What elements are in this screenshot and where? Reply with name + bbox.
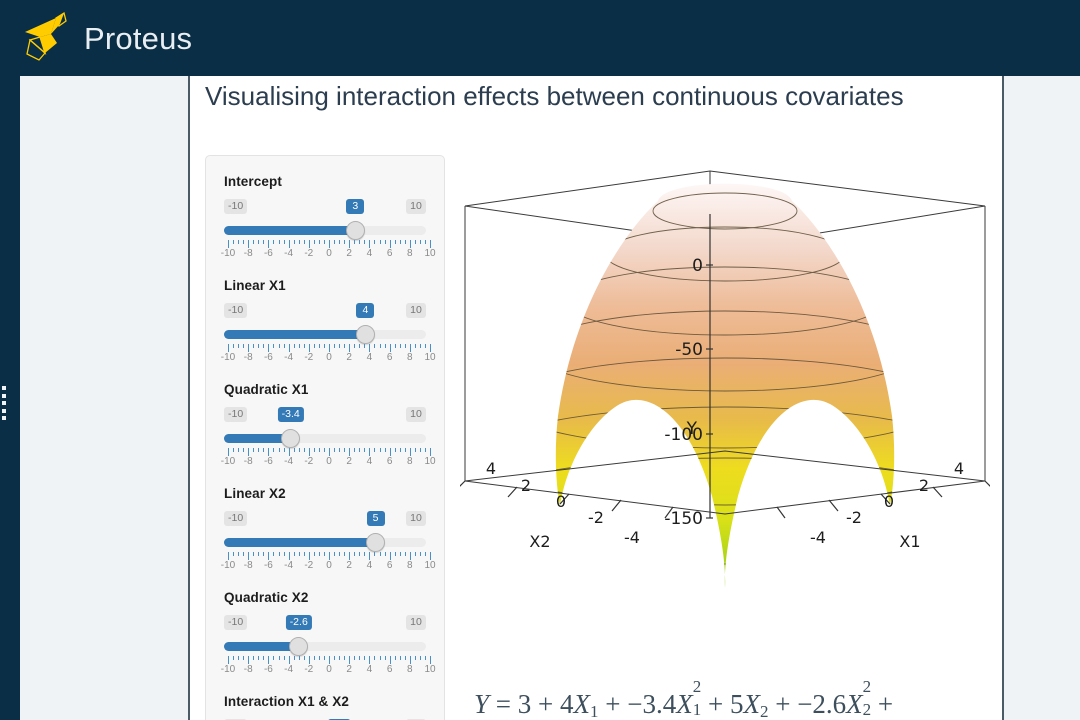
slider-value-bubble-4: -2.6 — [286, 615, 312, 630]
x2-tick--4: -4 — [624, 528, 640, 547]
slider-thumb-0[interactable] — [346, 221, 365, 240]
x2-tick-2: 2 — [521, 476, 531, 495]
slider-scale-tick-1-1: -8 — [244, 352, 253, 363]
slider-thumb-2[interactable] — [281, 429, 300, 448]
slider-scale-tick-2-9: 8 — [407, 456, 413, 467]
slider-scale-tick-2-4: -2 — [304, 456, 313, 467]
slider-track-4[interactable] — [224, 638, 426, 655]
equation-equals: = — [496, 689, 511, 719]
slider-scale-tick-3-9: 8 — [407, 560, 413, 571]
slider-scale-tick-4-0: -10 — [221, 664, 235, 675]
slider-scale-tick-4-8: 6 — [387, 664, 393, 675]
slider-scale-tick-0-7: 4 — [367, 248, 373, 259]
slider-scale-tick-2-2: -6 — [264, 456, 273, 467]
equation-x1-power: 2 — [693, 677, 702, 697]
slider-scale-tick-3-10: 10 — [424, 560, 435, 571]
y-tick-150: -150 — [664, 509, 703, 529]
slider-scale-tick-1-7: 4 — [367, 352, 373, 363]
slider-max-label-2: 10 — [406, 407, 426, 422]
slider-scale-1: -10-8-6-4-20246810 — [224, 352, 426, 366]
slider-track-1[interactable] — [224, 326, 426, 343]
slider-thumb-1[interactable] — [356, 325, 375, 344]
slider-scale-tick-1-0: -10 — [221, 352, 235, 363]
x2-tick-0: 0 — [556, 492, 566, 511]
slider-scale-tick-4-9: 8 — [407, 664, 413, 675]
drag-grip-icon[interactable] — [2, 386, 8, 420]
y-axis-title: Y — [686, 419, 698, 439]
slider-scale-tick-2-1: -8 — [244, 456, 253, 467]
slider-value-row-4: -1010-2.6 — [224, 615, 426, 637]
x1-axis-title: X1 — [899, 532, 920, 551]
equation-lhs: Y — [474, 689, 489, 719]
slider-ruler-2 — [224, 448, 426, 456]
slider-scale-tick-1-6: 2 — [346, 352, 352, 363]
slider-scale-tick-0-8: 6 — [387, 248, 393, 259]
equation-x1-b: X — [676, 689, 693, 719]
equation-x1-sub-b: 1 — [693, 700, 702, 720]
x2-tick-4: 4 — [486, 459, 496, 478]
equation-x2-power: 2 — [863, 677, 872, 697]
equation-x2-a: X — [743, 689, 760, 719]
slider-scale-tick-3-5: 0 — [326, 560, 332, 571]
slider-scale-2: -10-8-6-4-20246810 — [224, 456, 426, 470]
slider-scale-tick-4-1: -8 — [244, 664, 253, 675]
slider-label-1: Linear X1 — [224, 278, 426, 293]
equation-quad-x1-coef: −3.4 — [627, 689, 676, 719]
slider-label-0: Intercept — [224, 174, 426, 189]
slider-scale-tick-0-2: -6 — [264, 248, 273, 259]
slider-scale-tick-0-0: -10 — [221, 248, 235, 259]
slider-scale-tick-2-6: 2 — [346, 456, 352, 467]
slider-min-label-0: -10 — [224, 199, 247, 214]
slider-group-4: Quadratic X2-1010-2.6-10-8-6-4-20246810 — [224, 590, 426, 678]
slider-scale-tick-3-1: -8 — [244, 560, 253, 571]
slider-max-label-3: 10 — [406, 511, 426, 526]
slider-scale-tick-4-5: 0 — [326, 664, 332, 675]
equation-plus-3: + — [708, 689, 723, 719]
equation-intercept: 3 — [518, 689, 532, 719]
equation-linear-x1-coef: 4 — [560, 689, 574, 719]
slider-max-label-4: 10 — [406, 615, 426, 630]
slider-group-3: Linear X2-10105-10-8-6-4-20246810 — [224, 486, 426, 574]
slider-value-row-2: -1010-3.4 — [224, 407, 426, 429]
slider-scale-tick-3-8: 6 — [387, 560, 393, 571]
x1-tick--2: -2 — [846, 508, 862, 527]
slider-label-4: Quadratic X2 — [224, 590, 426, 605]
slider-scale-3: -10-8-6-4-20246810 — [224, 560, 426, 574]
slider-group-2: Quadratic X1-1010-3.4-10-8-6-4-20246810 — [224, 382, 426, 470]
x2-tick--2: -2 — [588, 508, 604, 527]
equation-quad-x2-coef: −2.6 — [797, 689, 846, 719]
slider-min-label-2: -10 — [224, 407, 247, 422]
slider-scale-tick-2-0: -10 — [221, 456, 235, 467]
slider-value-row-3: -10105 — [224, 511, 426, 533]
slider-track-0[interactable] — [224, 222, 426, 239]
slider-thumb-4[interactable] — [289, 637, 308, 656]
slider-scale-tick-2-7: 4 — [367, 456, 373, 467]
equation-plus-2: + — [605, 689, 620, 719]
sidebar-panel — [20, 76, 190, 720]
x2-axis-title: X2 — [529, 532, 550, 551]
slider-ruler-4 — [224, 656, 426, 664]
parameter-controls-card: Intercept-10103-10-8-6-4-20246810Linear … — [205, 155, 445, 720]
slider-track-2[interactable] — [224, 430, 426, 447]
equation-linear-x2-coef: 5 — [730, 689, 744, 719]
slider-scale-tick-3-6: 2 — [346, 560, 352, 571]
equation-x1-a: X — [574, 689, 591, 719]
equation-x2-sub-a: 2 — [760, 702, 769, 720]
slider-scale-tick-1-10: 10 — [424, 352, 435, 363]
top-navbar: Proteus — [0, 0, 1080, 76]
slider-value-bubble-0: 3 — [346, 199, 364, 214]
slider-track-fill-0 — [224, 226, 355, 235]
slider-scale-tick-3-0: -10 — [221, 560, 235, 571]
surface-mesh — [460, 166, 990, 686]
model-equation: Y = 3 + 4X1 + −3.4X211 + 5X2 + −2.6X221 … — [474, 689, 893, 720]
slider-label-5: Interaction X1 & X2 — [224, 694, 426, 709]
slider-scale-tick-1-3: -4 — [284, 352, 293, 363]
slider-group-5: Interaction X1 & X2-10101.4-10-8-6-4-202… — [224, 694, 426, 720]
slider-max-label-0: 10 — [406, 199, 426, 214]
x1-tick-4: 4 — [954, 459, 964, 478]
slider-scale-tick-1-2: -6 — [264, 352, 273, 363]
slider-value-row-1: -10104 — [224, 303, 426, 325]
slider-ruler-3 — [224, 552, 426, 560]
slider-thumb-3[interactable] — [366, 533, 385, 552]
slider-scale-tick-1-9: 8 — [407, 352, 413, 363]
y-tick-50: -50 — [675, 340, 703, 360]
slider-scale-tick-4-3: -4 — [284, 664, 293, 675]
slider-scale-tick-4-4: -2 — [304, 664, 313, 675]
right-gutter — [1004, 76, 1080, 720]
equation-plus-5: + — [878, 689, 893, 719]
slider-ruler-1 — [224, 344, 426, 352]
slider-scale-tick-1-4: -2 — [304, 352, 313, 363]
slider-track-fill-4 — [224, 642, 299, 651]
slider-scale-tick-0-6: 2 — [346, 248, 352, 259]
slider-scale-tick-3-7: 4 — [367, 560, 373, 571]
slider-scale-tick-1-8: 6 — [387, 352, 393, 363]
main-content: Visualising interaction effects between … — [192, 76, 1004, 720]
y-tick-100: -100 — [664, 425, 703, 445]
slider-scale-tick-0-9: 8 — [407, 248, 413, 259]
slider-scale-tick-4-6: 2 — [346, 664, 352, 675]
slider-label-3: Linear X2 — [224, 486, 426, 501]
equation-plus-1: + — [538, 689, 553, 719]
slider-track-3[interactable] — [224, 534, 426, 551]
slider-scale-tick-4-10: 10 — [424, 664, 435, 675]
slider-scale-tick-4-2: -6 — [264, 664, 273, 675]
x1-tick-2: 2 — [919, 476, 929, 495]
x1-tick--4: -4 — [810, 528, 826, 547]
slider-value-bubble-1: 4 — [356, 303, 374, 318]
slider-value-bubble-3: 5 — [367, 511, 385, 526]
slider-scale-tick-0-1: -8 — [244, 248, 253, 259]
slider-scale-tick-0-4: -2 — [304, 248, 313, 259]
slider-scale-tick-2-5: 0 — [326, 456, 332, 467]
equation-plus-4: + — [775, 689, 790, 719]
slider-max-label-1: 10 — [406, 303, 426, 318]
slider-scale-tick-2-3: -4 — [284, 456, 293, 467]
slider-value-row-0: -10103 — [224, 199, 426, 221]
slider-scale-tick-2-10: 10 — [424, 456, 435, 467]
slider-min-label-1: -10 — [224, 303, 247, 318]
equation-x2-b: X — [846, 689, 863, 719]
brand-name: Proteus — [84, 23, 192, 54]
slider-group-0: Intercept-10103-10-8-6-4-20246810 — [224, 174, 426, 262]
page-title: Visualising interaction effects between … — [205, 80, 905, 113]
surface-plot: 0 -50 -100 -150 Y -4 -2 0 2 4 X2 — [460, 166, 990, 686]
slider-scale-tick-3-2: -6 — [264, 560, 273, 571]
slider-scale-4: -10-8-6-4-20246810 — [224, 664, 426, 678]
y-tick-0: 0 — [692, 256, 703, 276]
x1-tick-0: 0 — [884, 492, 894, 511]
origami-bird-logo-icon — [22, 10, 74, 67]
equation-x2-sub-b: 2 — [863, 700, 872, 720]
slider-group-1: Linear X1-10104-10-8-6-4-20246810 — [224, 278, 426, 366]
slider-ruler-0 — [224, 240, 426, 248]
x2-axis-ticks — [460, 481, 673, 518]
slider-min-label-3: -10 — [224, 511, 247, 526]
slider-scale-tick-0-5: 0 — [326, 248, 332, 259]
slider-scale-tick-4-7: 4 — [367, 664, 373, 675]
slider-track-fill-1 — [224, 330, 365, 339]
slider-track-fill-3 — [224, 538, 376, 547]
left-rail[interactable] — [0, 76, 20, 720]
slider-scale-tick-3-4: -2 — [304, 560, 313, 571]
slider-scale-tick-3-3: -4 — [284, 560, 293, 571]
slider-label-2: Quadratic X1 — [224, 382, 426, 397]
equation-x1-sub-a: 1 — [590, 702, 599, 720]
slider-scale-tick-0-3: -4 — [284, 248, 293, 259]
slider-scale-0: -10-8-6-4-20246810 — [224, 248, 426, 262]
slider-scale-tick-0-10: 10 — [424, 248, 435, 259]
slider-value-bubble-2: -3.4 — [278, 407, 304, 422]
slider-scale-tick-1-5: 0 — [326, 352, 332, 363]
slider-min-label-4: -10 — [224, 615, 247, 630]
slider-scale-tick-2-8: 6 — [387, 456, 393, 467]
